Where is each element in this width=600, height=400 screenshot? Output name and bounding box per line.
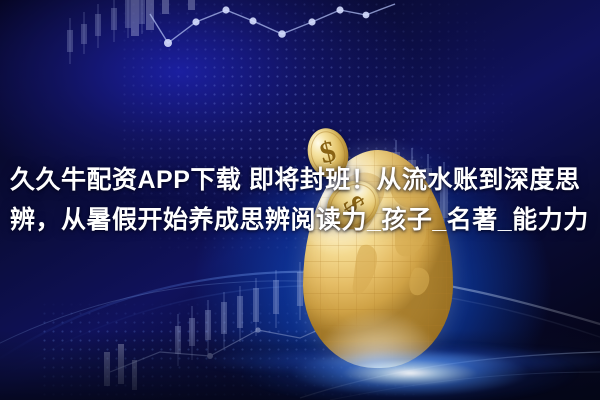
base-glow-core: [230, 318, 600, 400]
promo-banner: $ $ 久久牛配资APP下载 即将封班！从流水账到深度思辨，从暑假开始养成思辨阅…: [0, 0, 600, 400]
headline-text: 久久牛配资APP下载 即将封班！从流水账到深度思辨，从暑假开始养成思辨阅读力_孩…: [0, 160, 600, 240]
candlestick-group-upper: [67, 0, 195, 64]
trend-line-upper: [150, 4, 395, 47]
